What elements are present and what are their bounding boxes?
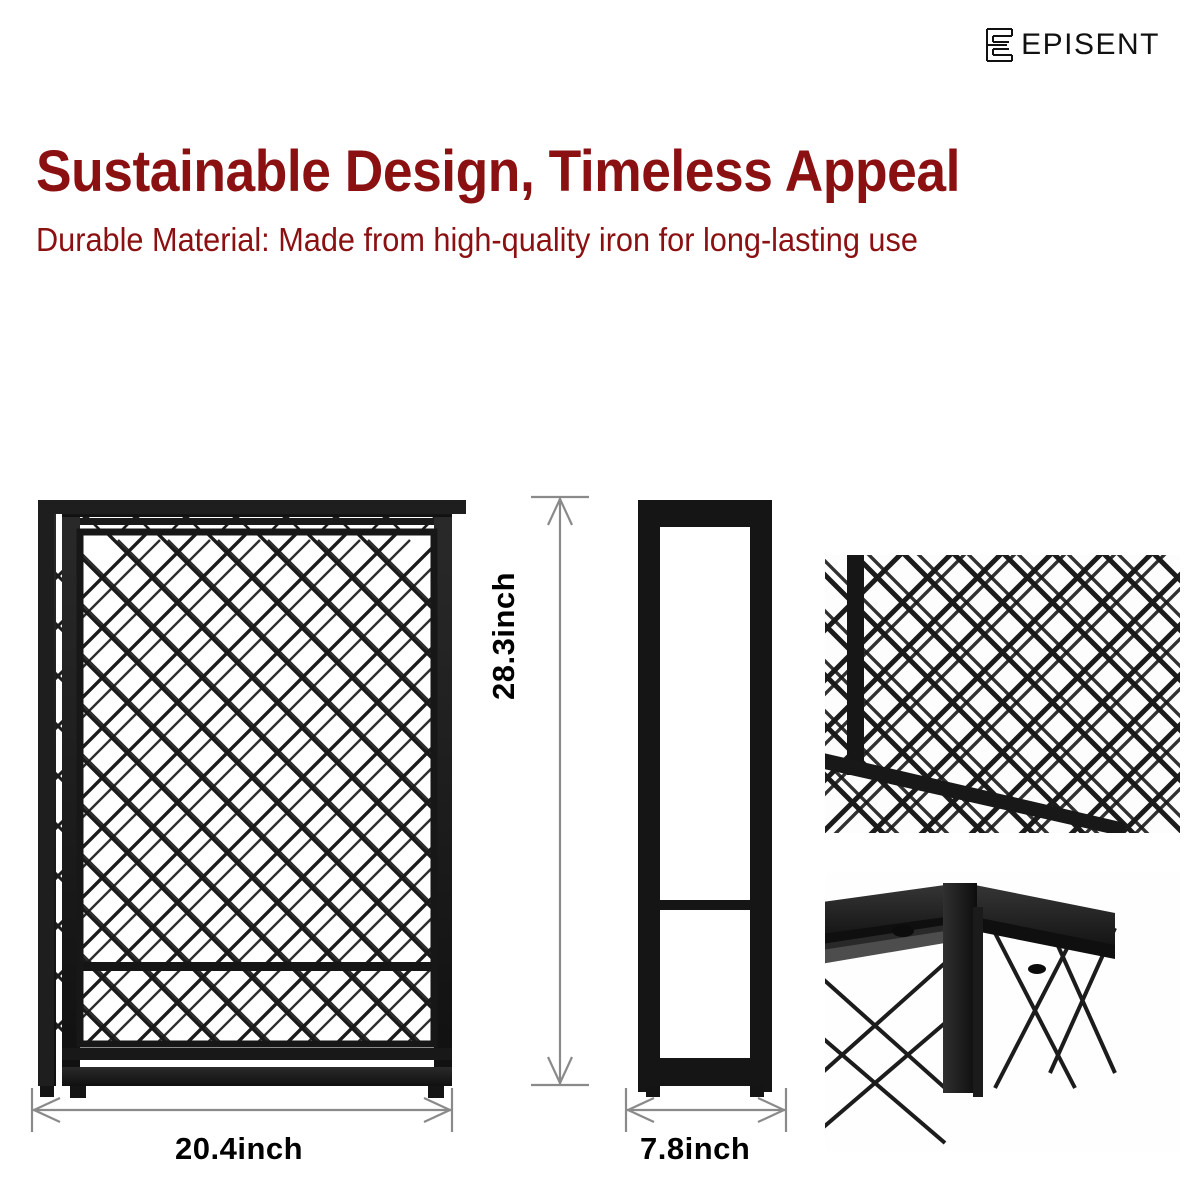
- lattice-detail-drawing: [825, 555, 1180, 833]
- foot-left: [70, 1086, 86, 1098]
- side-view-drawing: [624, 492, 786, 1100]
- maze-e-logo-icon: [985, 28, 1015, 62]
- product-detail-corner: [825, 873, 1180, 1151]
- page-subtitle: Durable Material: Made from high-quality…: [36, 219, 975, 261]
- brand-name: EPISENT: [1021, 28, 1160, 62]
- product-side-view: [624, 492, 786, 1100]
- height-dimension-label: 28.3inch: [486, 572, 522, 700]
- depth-dimension-label: 7.8inch: [640, 1131, 750, 1167]
- brand-logo: EPISENT: [985, 28, 1160, 62]
- foot-right: [428, 1086, 444, 1098]
- product-image-stage: [0, 470, 1200, 1200]
- page-title: Sustainable Design, Timeless Appeal: [36, 140, 965, 205]
- product-detail-lattice: [825, 555, 1180, 833]
- corner-detail-drawing: [825, 873, 1180, 1151]
- product-front-view: [26, 492, 478, 1100]
- front-view-drawing: [26, 492, 478, 1100]
- width-dimension-label: 20.4inch: [175, 1131, 303, 1167]
- copy-block: Sustainable Design, Timeless Appeal Dura…: [36, 140, 1046, 261]
